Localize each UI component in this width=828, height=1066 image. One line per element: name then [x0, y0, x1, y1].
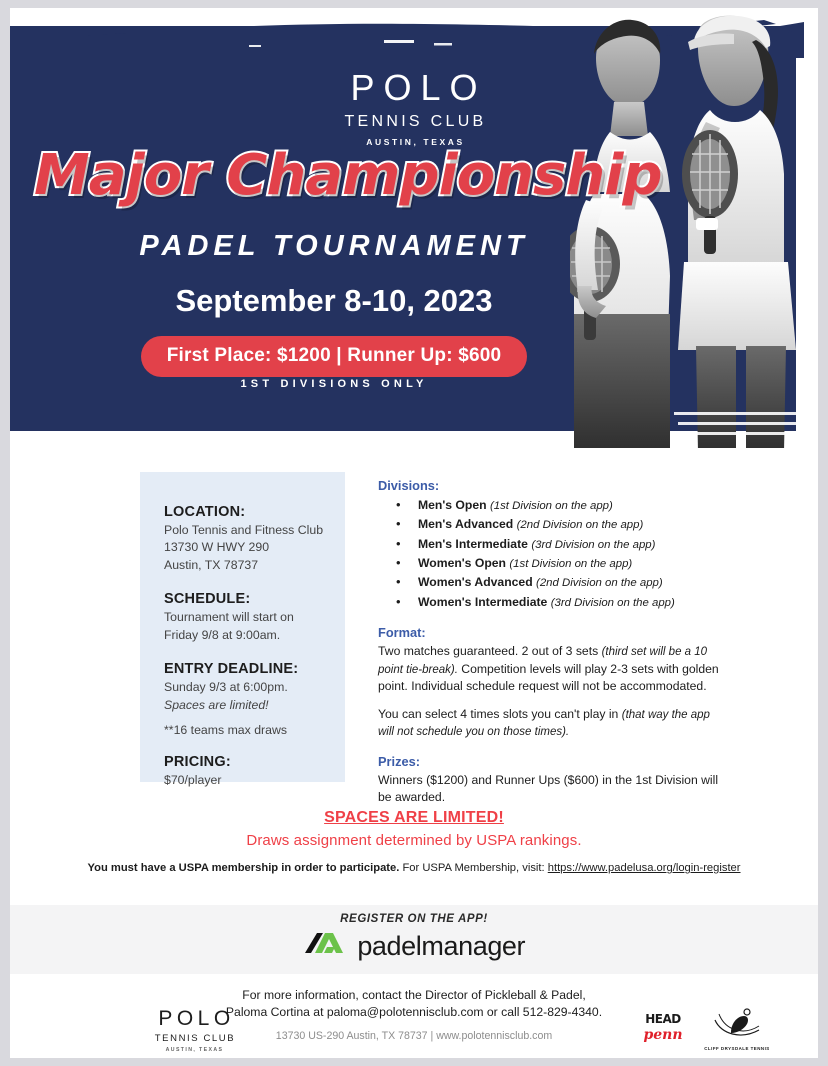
page-title: Major Championship [34, 148, 634, 204]
flyer-page: POLO TENNIS CLUB AUSTIN, TEXAS Major Cha… [0, 0, 828, 1066]
format-p2-a: You can select 4 times slots you can't p… [378, 707, 622, 721]
footer-polo-logo: POLO TENNIS CLUB AUSTIN, TEXAS [142, 1008, 247, 1053]
penn-logo-text: penn [632, 1027, 694, 1043]
footer-logo-tennis-club: TENNIS CLUB [142, 1033, 247, 1044]
uspa-membership-link[interactable]: https://www.padelusa.org/login-register [548, 862, 741, 874]
head-logo-text: HEAD [632, 1012, 694, 1026]
flyer-sheet: POLO TENNIS CLUB AUSTIN, TEXAS Major Cha… [10, 8, 818, 1058]
info-block-location: LOCATION: Polo Tennis and Fitness Club 1… [164, 504, 345, 574]
hero-banner: POLO TENNIS CLUB AUSTIN, TEXAS Major Cha… [10, 8, 818, 448]
info-line: Sunday 9/3 at 6:00pm. [164, 679, 345, 696]
info-line: Austin, TX 78737 [164, 557, 345, 574]
divisions-list: Men's Open (1st Division on the app) Men… [378, 496, 728, 612]
padelmanager-wordmark: padelmanager [357, 931, 525, 962]
info-line: Polo Tennis and Fitness Club [164, 522, 345, 539]
draws-assignment-note: Draws assignment determined by USPA rank… [10, 832, 818, 849]
info-block-pricing: PRICING: $70/player [164, 754, 345, 789]
info-max-draws-note: **16 teams max draws [164, 723, 345, 737]
cliff-drysdale-text: CLIFF DRYSDALE TENNIS [704, 1046, 770, 1051]
info-heading: PRICING: [164, 754, 345, 770]
divisions-heading: Divisions: [378, 478, 728, 493]
info-line-italic: Spaces are limited! [164, 697, 345, 714]
division-note: (2nd Division on the app) [536, 577, 663, 589]
division-name: Women's Open [418, 556, 506, 570]
format-paragraph-2: You can select 4 times slots you can't p… [378, 706, 728, 741]
info-line: Friday 9/8 at 9:00am. [164, 627, 345, 644]
details-column: Divisions: Men's Open (1st Division on t… [378, 478, 728, 807]
padelmanager-logo[interactable]: padelmanager [10, 931, 818, 962]
hero-dates: September 8-10, 2023 [34, 283, 634, 319]
cliff-drysdale-logo: CLIFF DRYSDALE TENNIS [704, 1008, 770, 1051]
footer-logo-city: AUSTIN, TEXAS [142, 1047, 247, 1053]
info-heading: LOCATION: [164, 504, 345, 520]
division-note: (1st Division on the app) [490, 500, 613, 512]
cliff-drysdale-mark-icon [711, 1008, 763, 1040]
list-item: Men's Advanced (2nd Division on the app) [396, 515, 728, 534]
uspa-rest-text: For USPA Membership, visit: [399, 862, 547, 874]
hero-logo-polo: POLO [10, 70, 818, 106]
hero-logo-tennis-club: TENNIS CLUB [10, 113, 818, 131]
info-block-schedule: SCHEDULE: Tournament will start on Frida… [164, 591, 345, 644]
info-line: $70/player [164, 772, 345, 789]
division-name: Women's Advanced [418, 575, 533, 589]
division-note: (1st Division on the app) [509, 558, 632, 570]
list-item: Men's Open (1st Division on the app) [396, 496, 728, 515]
division-note: (2nd Division on the app) [517, 519, 644, 531]
hero-club-logo: POLO TENNIS CLUB AUSTIN, TEXAS [10, 70, 818, 147]
padelmanager-mark-icon [303, 931, 345, 962]
event-info-box: LOCATION: Polo Tennis and Fitness Club 1… [140, 472, 345, 782]
format-heading: Format: [378, 625, 728, 640]
register-app-band: REGISTER ON THE APP! padelmanager [10, 905, 818, 974]
uspa-membership-note: You must have a USPA membership in order… [10, 862, 818, 874]
format-p1-a: Two matches guaranteed. 2 out of 3 sets [378, 644, 602, 658]
prizes-text: Winners ($1200) and Runner Ups ($600) in… [378, 772, 728, 807]
info-heading: SCHEDULE: [164, 591, 345, 607]
register-on-app-label: REGISTER ON THE APP! [10, 913, 818, 925]
prize-badge-wrapper: First Place: $1200 | Runner Up: $600 [34, 336, 634, 377]
list-item: Men's Intermediate (3rd Division on the … [396, 535, 728, 554]
uspa-bold-text: You must have a USPA membership in order… [87, 862, 399, 874]
division-note: (3rd Division on the app) [551, 597, 675, 609]
division-name: Women's Intermediate [418, 595, 547, 609]
info-line: 13730 W HWY 290 [164, 539, 345, 556]
prize-badge: First Place: $1200 | Runner Up: $600 [141, 336, 528, 377]
footer-logo-polo: POLO [142, 1008, 247, 1029]
format-paragraph-1: Two matches guaranteed. 2 out of 3 sets … [378, 643, 728, 696]
division-name: Men's Intermediate [418, 537, 528, 551]
prizes-heading: Prizes: [378, 754, 728, 769]
list-item: Women's Open (1st Division on the app) [396, 554, 728, 573]
division-name: Men's Advanced [418, 517, 513, 531]
info-line: Tournament will start on [164, 609, 345, 626]
list-item: Women's Intermediate (3rd Division on th… [396, 593, 728, 612]
info-block-entry-deadline: ENTRY DEADLINE: Sunday 9/3 at 6:00pm. Sp… [164, 661, 345, 737]
head-penn-logo: HEAD penn [632, 1012, 694, 1043]
division-name: Men's Open [418, 498, 487, 512]
division-note: (3rd Division on the app) [531, 539, 655, 551]
spaces-limited-alert: SPACES ARE LIMITED! [10, 809, 818, 827]
footer-contact-line-1: For more information, contact the Direct… [10, 987, 818, 1004]
hero-subtitle: PADEL TOURNAMENT [34, 230, 634, 263]
sponsor-logos: HEAD penn CLIFF DRYSDALE TENNIS [632, 1008, 772, 1052]
list-item: Women's Advanced (2nd Division on the ap… [396, 573, 728, 592]
divisions-only-note: 1ST DIVISIONS ONLY [34, 378, 634, 390]
info-heading: ENTRY DEADLINE: [164, 661, 345, 677]
